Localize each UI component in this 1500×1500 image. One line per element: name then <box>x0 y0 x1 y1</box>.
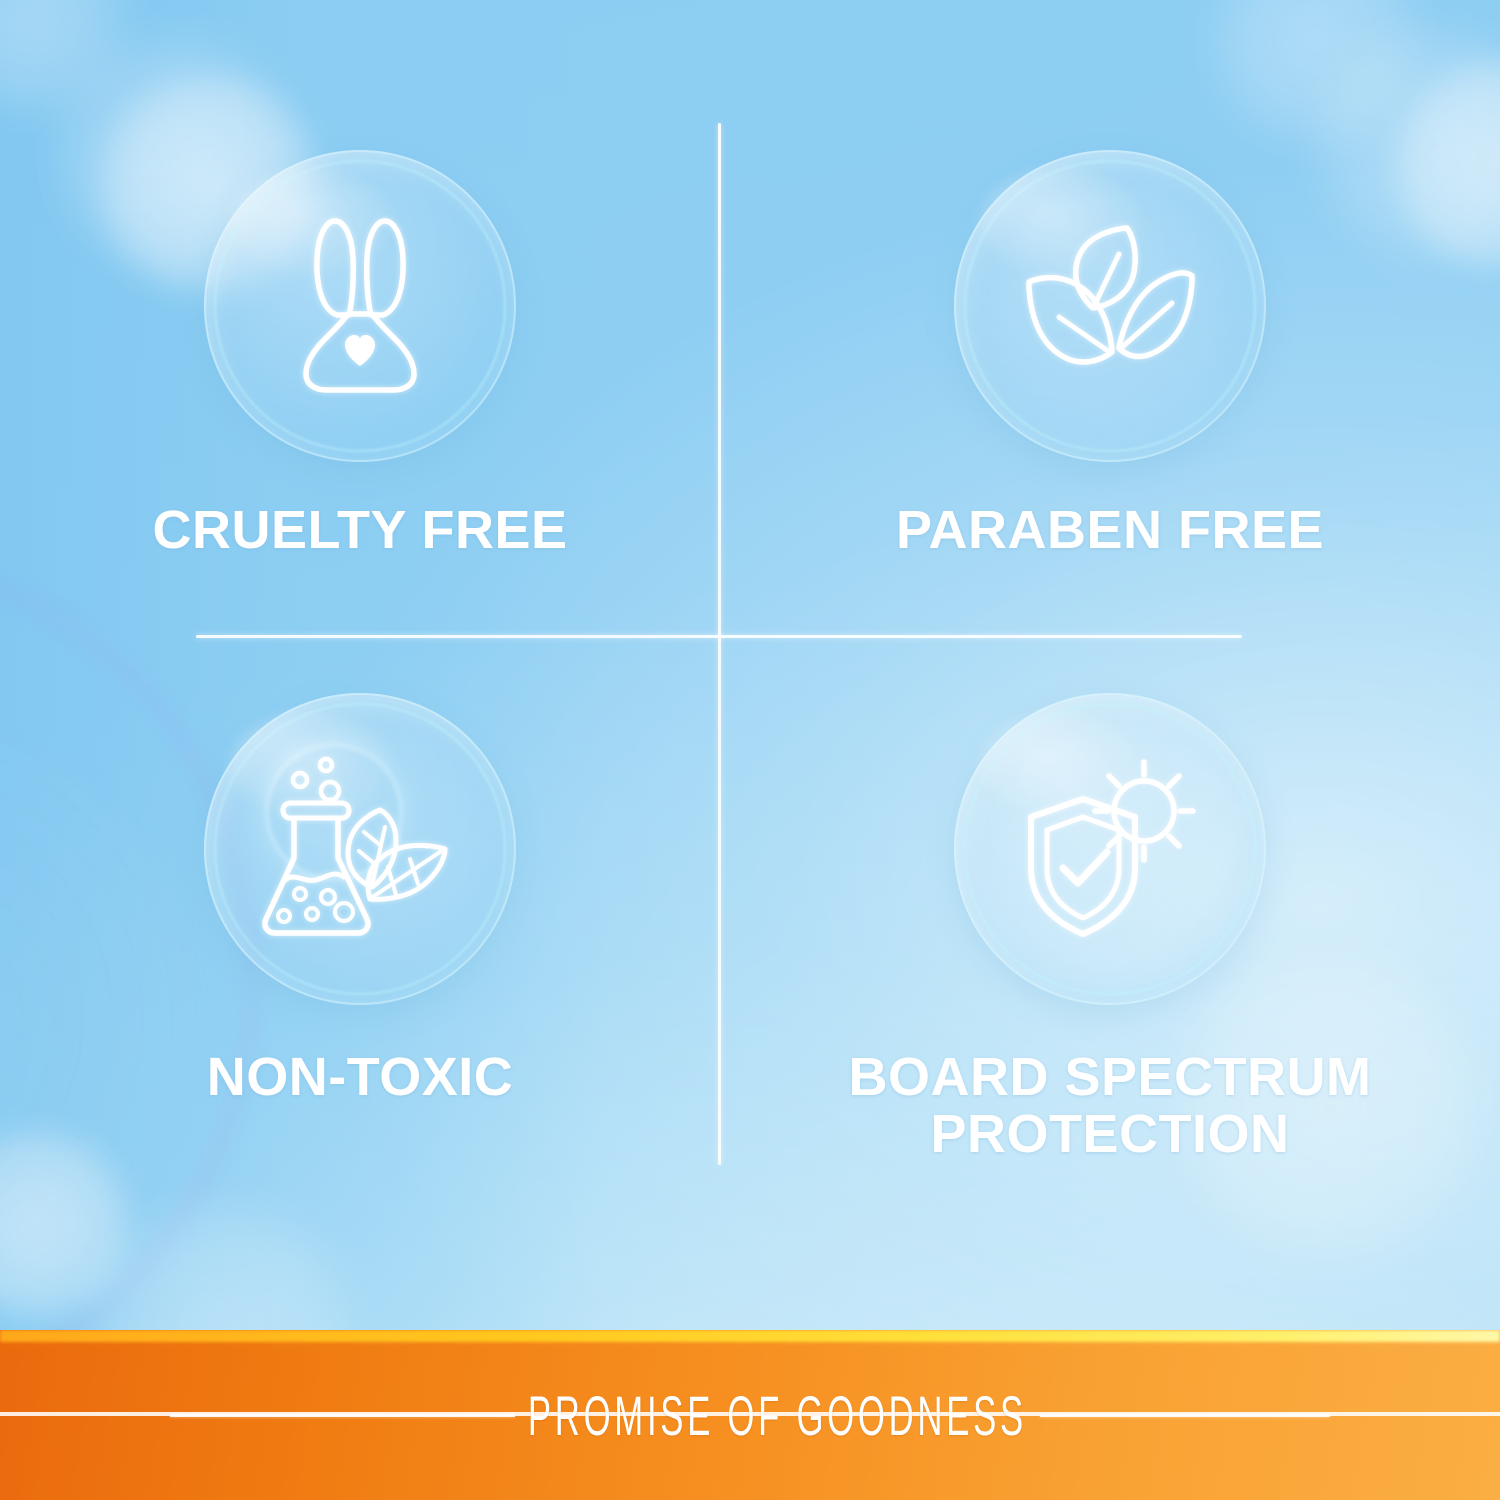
feature-badge-bubble <box>954 693 1266 1005</box>
feature-badge-bubble <box>204 693 516 1005</box>
banner-rule-right <box>1040 1414 1330 1417</box>
promise-of-goodness-poster: CRUELTY FREE PARABEN FREE <box>0 0 1500 1500</box>
feature-cell-non-toxic: NON-TOXIC <box>0 635 720 1290</box>
feature-grid: CRUELTY FREE PARABEN FREE <box>0 0 1500 1290</box>
three-leaves-icon <box>1015 216 1205 396</box>
feature-badge-bubble <box>954 150 1266 462</box>
shield-sun-check-icon <box>1015 754 1205 944</box>
banner-content: PROMISE OF GOODNESS <box>0 1330 1500 1500</box>
banner-rule-left <box>170 1414 515 1417</box>
feature-label-paraben-free: PARABEN FREE <box>896 502 1324 559</box>
feature-label-cruelty-free: CRUELTY FREE <box>152 502 567 559</box>
feature-label-board-spectrum-protection: BOARD SPECTRUM PROTECTION <box>848 1049 1371 1162</box>
feature-cell-paraben-free: PARABEN FREE <box>720 0 1500 635</box>
feature-cell-cruelty-free: CRUELTY FREE <box>0 0 720 635</box>
bunny-heart-icon <box>275 211 445 401</box>
promise-banner: PROMISE OF GOODNESS <box>0 1330 1500 1500</box>
feature-cell-board-spectrum-protection: BOARD SPECTRUM PROTECTION <box>720 635 1500 1290</box>
banner-title: PROMISE OF GOODNESS <box>528 1383 1027 1448</box>
feature-label-non-toxic: NON-TOXIC <box>207 1049 514 1106</box>
feature-badge-bubble <box>204 150 516 462</box>
flask-leaves-icon <box>260 753 460 945</box>
